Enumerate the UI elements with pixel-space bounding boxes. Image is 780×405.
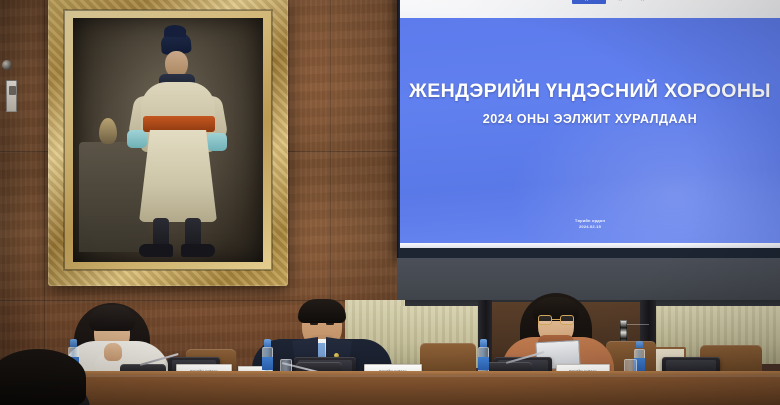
conference-desk xyxy=(0,375,780,405)
slide-title: ЖЕНДЭРИЙН ҮНДЭСНИЙ ХОРООНЫ xyxy=(400,80,780,103)
painting-left-boot xyxy=(139,244,173,257)
painting-right-cuff xyxy=(207,133,227,151)
participant-left-hair-front xyxy=(89,305,135,331)
wall-switch-plate[interactable] xyxy=(6,80,17,112)
slide-logo: ЖЕНДЭРИЙН ЖЕНДЭРИЙН ҮНДЭСНИЙ ХОРОО xyxy=(572,0,673,4)
wall-panel-seam-vertical-2 xyxy=(44,0,46,405)
painting-right-boot xyxy=(181,244,215,257)
bottle-cap-far-right xyxy=(636,341,642,348)
slide-subtitle: 2024 ОНЫ ЭЭЛЖИТ ХУРАЛДААН xyxy=(400,112,780,126)
wall-device-wire xyxy=(627,324,649,325)
participant-center-hair xyxy=(298,299,346,323)
participant-left-hand xyxy=(104,343,122,361)
projection-screen: ЖЕНДЭРИЙН ЖЕНДЭРИЙН ҮНДЭСНИЙ ХОРОО ЖЕНДЭ… xyxy=(397,0,780,260)
painting-vase xyxy=(99,118,117,144)
slide-body: ЖЕНДЭРИЙН ҮНДЭСНИЙ ХОРООНЫ 2024 ОНЫ ЭЭЛЖ… xyxy=(400,18,780,243)
painting-canvas xyxy=(73,18,263,262)
wall-speaker-icon xyxy=(2,60,12,70)
painting-left-cuff xyxy=(127,130,147,148)
framed-portrait-painting xyxy=(48,0,288,286)
slide-footer-date: 2024.02.15 xyxy=(400,224,780,230)
painting-table xyxy=(79,142,147,252)
eyeglasses-lens-right xyxy=(560,315,574,325)
slide-footer: Төрийн ордон 2024.02.15 xyxy=(400,218,780,230)
conference-hall-scene: ЖЕНДЭРИЙН ЖЕНДЭРИЙН ҮНДЭСНИЙ ХОРОО ЖЕНДЭ… xyxy=(0,0,780,405)
slide-logo-mark-text: ЖЕНДЭРИЙН xyxy=(577,0,601,1)
eyeglasses-bridge xyxy=(552,319,560,320)
foreground-person-head xyxy=(0,349,86,405)
slide-header-band: ЖЕНДЭРИЙН ЖЕНДЭРИЙН ҮНДЭСНИЙ ХОРОО xyxy=(400,0,780,18)
bottle-label-right xyxy=(478,357,489,370)
slide-logo-caption: ЖЕНДЭРИЙН ҮНДЭСНИЙ ХОРОО xyxy=(610,0,673,2)
bottle-cap-center xyxy=(264,339,270,347)
painting-robe-skirt xyxy=(139,130,217,222)
bottle-label-center xyxy=(262,357,273,370)
slide-logo-mark: ЖЕНДЭРИЙН xyxy=(572,0,606,4)
eyeglasses-lens-left xyxy=(538,315,552,325)
bottle-cap-left xyxy=(70,339,76,347)
eyeglasses-icon xyxy=(538,315,574,325)
bottle-cap-right xyxy=(480,339,486,347)
painting-sash-belt xyxy=(143,116,215,132)
